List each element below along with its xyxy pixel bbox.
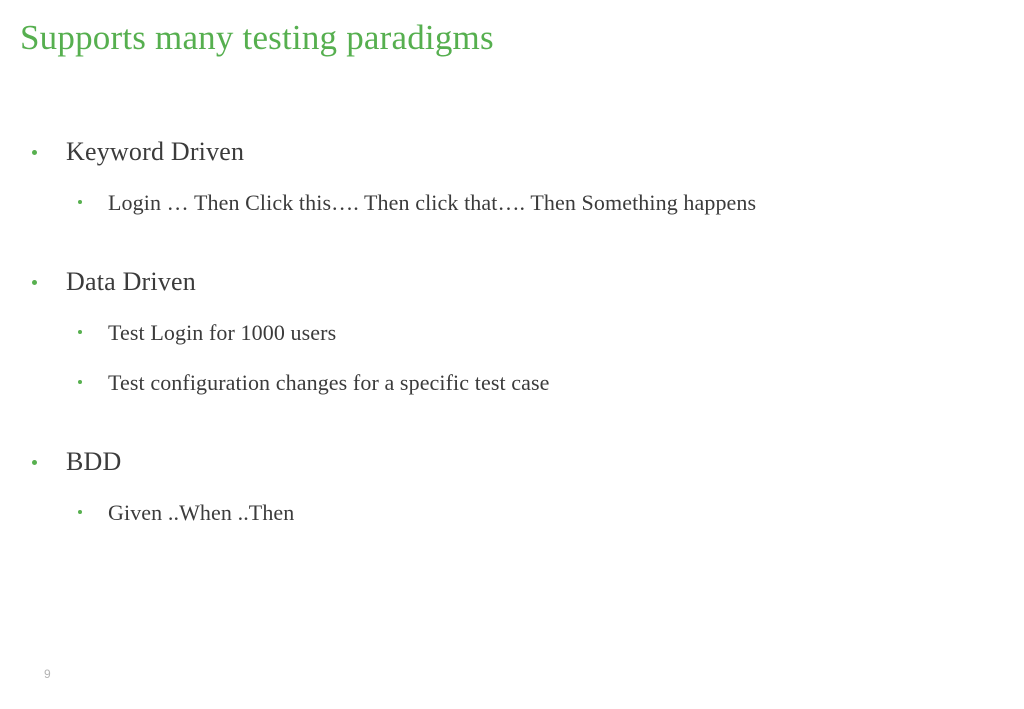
list-item-level2: Test configuration changes for a specifi… <box>0 364 1024 408</box>
list-item-level1: BDD <box>0 442 1024 488</box>
list-item-level2: Test Login for 1000 users <box>0 314 1024 358</box>
list-item-label: Login … Then Click this…. Then click tha… <box>108 184 1024 222</box>
group-spacer <box>0 234 1024 262</box>
list-item-label: Data Driven <box>66 262 1024 302</box>
bullet-list: Keyword Driven Login … Then Click this….… <box>0 132 1024 544</box>
bullet-dot-icon <box>32 442 66 482</box>
page-title: Supports many testing paradigms <box>20 16 980 60</box>
list-item-level2: Login … Then Click this…. Then click tha… <box>0 184 1024 228</box>
slide: Supports many testing paradigms Keyword … <box>0 0 1024 709</box>
bullet-dot-icon <box>78 314 108 352</box>
list-item-label: Given ..When ..Then <box>108 494 1024 532</box>
group-spacer <box>0 414 1024 442</box>
list-item-level2: Given ..When ..Then <box>0 494 1024 538</box>
list-item-label: Test configuration changes for a specifi… <box>108 364 1024 402</box>
list-item-label: Keyword Driven <box>66 132 1024 172</box>
list-item-label: BDD <box>66 442 1024 482</box>
list-item-level1: Data Driven <box>0 262 1024 308</box>
list-item-level1: Keyword Driven <box>0 132 1024 178</box>
bullet-dot-icon <box>32 262 66 302</box>
bullet-dot-icon <box>78 494 108 532</box>
bullet-dot-icon <box>78 364 108 402</box>
bullet-dot-icon <box>32 132 66 172</box>
page-number: 9 <box>44 667 51 681</box>
bullet-dot-icon <box>78 184 108 222</box>
list-item-label: Test Login for 1000 users <box>108 314 1024 352</box>
